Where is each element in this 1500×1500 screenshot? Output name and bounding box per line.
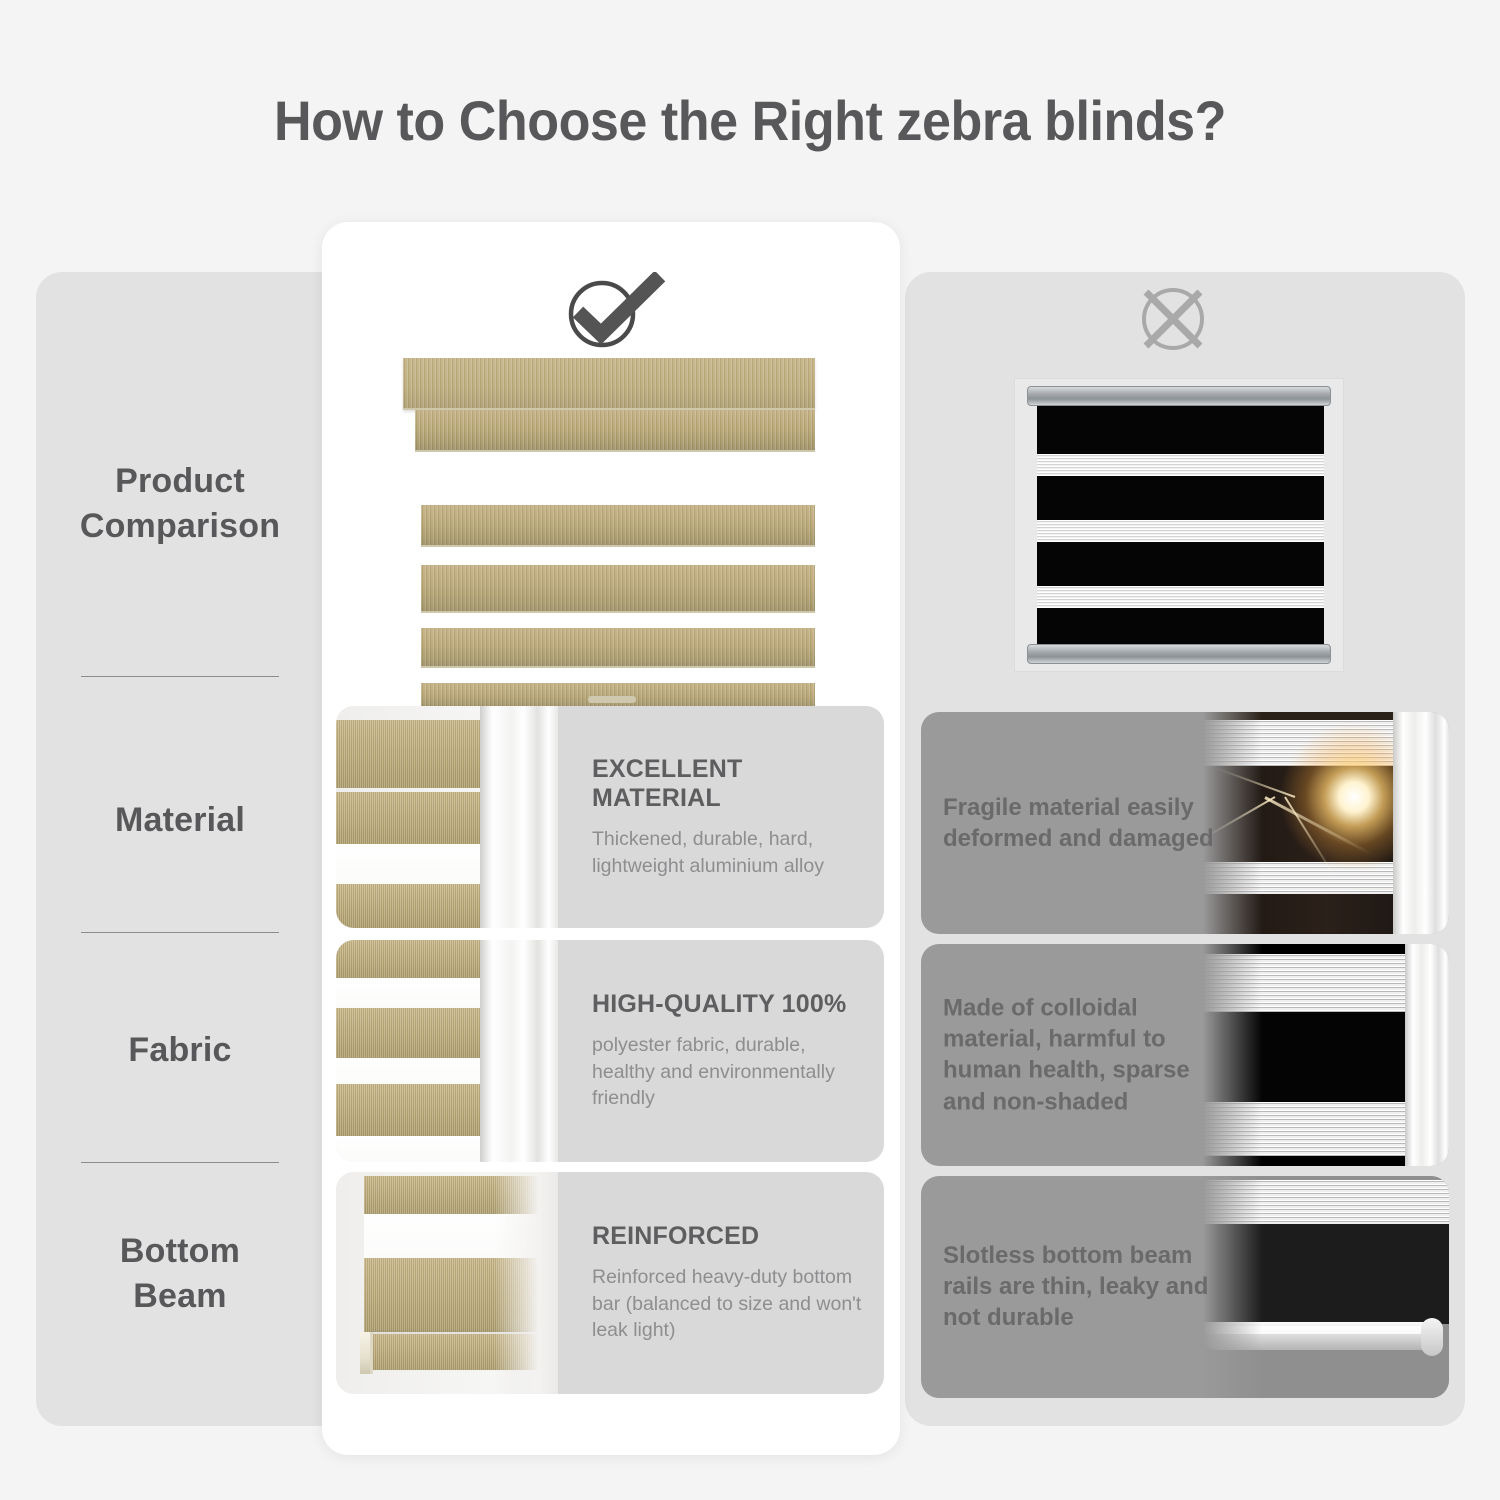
check-circle-icon (556, 272, 668, 350)
feature-card-material-bad: Fragile material easily deformed and dam… (921, 712, 1449, 934)
good-hero-image (403, 358, 815, 698)
sidebar-row-material: Material (36, 790, 324, 850)
feature-image-fabric-bad (1203, 944, 1449, 1166)
feature-image-fabric-good (336, 940, 558, 1162)
feature-card-fabric-good: HIGH-QUALITY 100% polyester fabric, dura… (336, 940, 884, 1162)
feature-title-material-good: EXCELLENT MATERIAL (592, 755, 862, 813)
sidebar-label-material: Material (115, 798, 245, 843)
sidebar-row-bottom-beam: Bottom Beam (36, 1214, 324, 1334)
sidebar-divider-2 (81, 932, 279, 933)
feature-card-bottom-beam-bad: Slotless bottom beam rails are thin, lea… (921, 1176, 1449, 1398)
feature-text-fabric-bad: Made of colloidal material, harmful to h… (943, 993, 1221, 1118)
sidebar-row-product-comparison: Product Comparison (36, 444, 324, 564)
feature-card-fabric-bad: Made of colloidal material, harmful to h… (921, 944, 1449, 1166)
sidebar-row-fabric: Fabric (36, 1020, 324, 1080)
feature-text-bottom-beam-bad: Slotless bottom beam rails are thin, lea… (943, 1240, 1221, 1334)
feature-image-bottom-beam-bad (1203, 1176, 1449, 1398)
sidebar-label-product-comparison: Product Comparison (80, 459, 280, 549)
feature-image-material-good (336, 706, 558, 928)
feature-card-bottom-beam-good: REINFORCED Reinforced heavy-duty bottom … (336, 1172, 884, 1394)
feature-body-fabric-good: polyester fabric, durable, healthy and e… (592, 1032, 862, 1113)
sidebar-label-bottom-beam: Bottom Beam (120, 1229, 240, 1319)
feature-card-material-good: EXCELLENT MATERIAL Thickened, durable, h… (336, 706, 884, 928)
feature-title-bottom-beam-good: REINFORCED (592, 1222, 862, 1251)
feature-body-material-good: Thickened, durable, hard, lightweight al… (592, 826, 862, 880)
sidebar-divider-1 (81, 676, 279, 677)
feature-title-fabric-good: HIGH-QUALITY 100% (592, 990, 862, 1019)
sidebar-divider-3 (81, 1162, 279, 1163)
feature-text-material-bad: Fragile material easily deformed and dam… (943, 792, 1221, 854)
comparison-sidebar: Product Comparison Material Fabric Botto… (36, 272, 324, 1426)
page-title: How to Choose the Right zebra blinds? (53, 88, 1448, 153)
bad-hero-image (1014, 378, 1344, 672)
feature-image-bottom-beam-good (336, 1172, 558, 1394)
feature-image-material-bad (1203, 712, 1449, 934)
sidebar-label-fabric: Fabric (128, 1028, 231, 1073)
cross-circle-icon (1128, 283, 1218, 355)
feature-body-bottom-beam-good: Reinforced heavy-duty bottom bar (balanc… (592, 1264, 862, 1345)
